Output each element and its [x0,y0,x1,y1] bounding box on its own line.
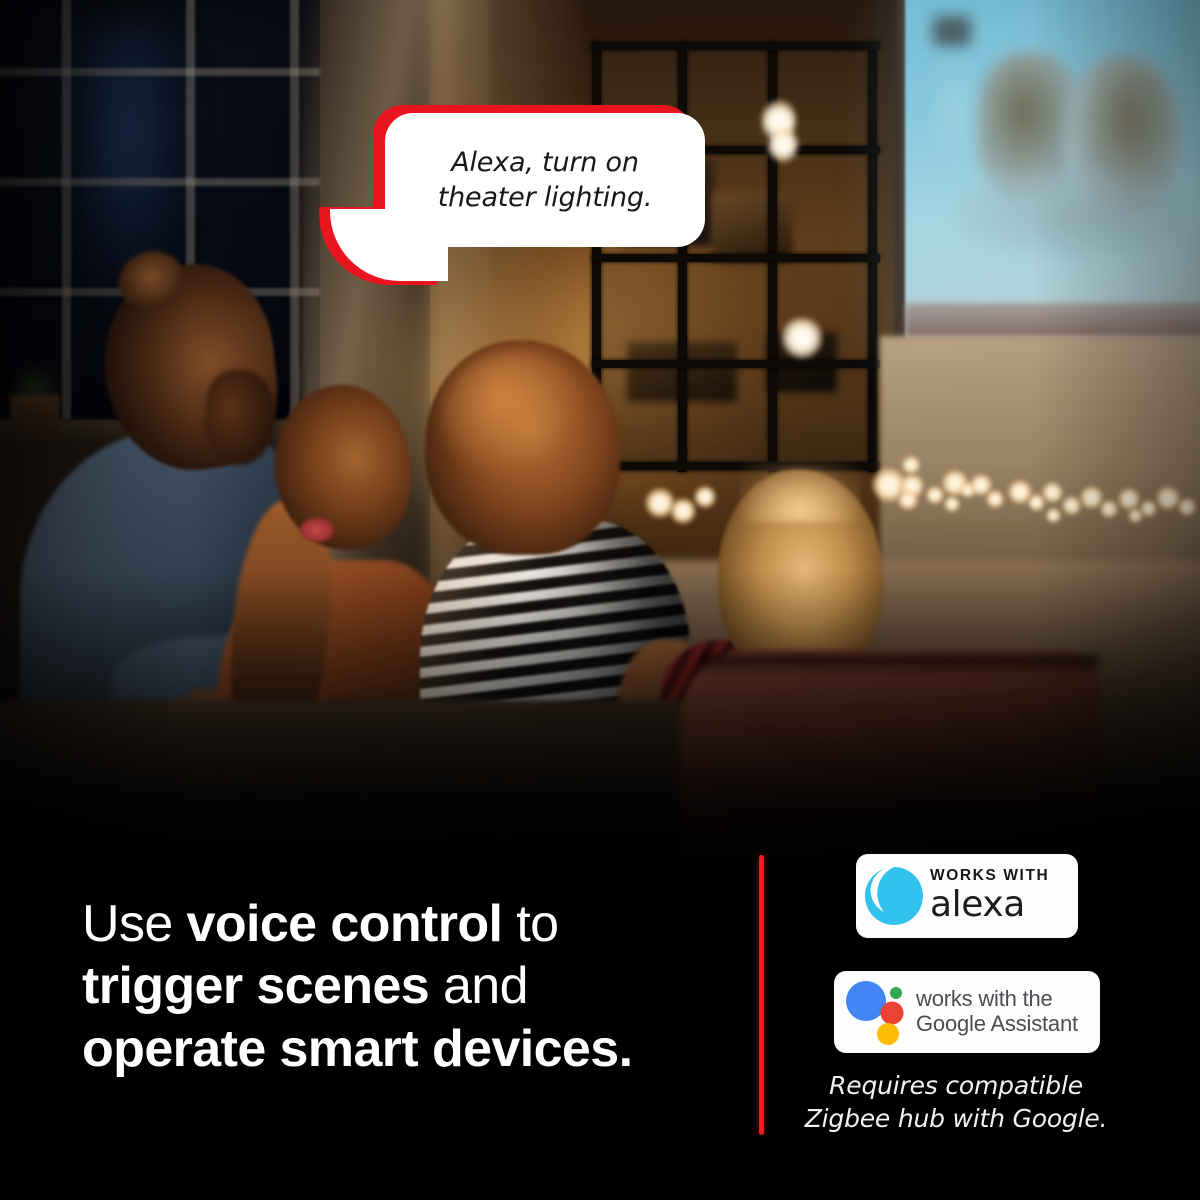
headline-l3-bold: operate smart devices. [82,1020,632,1078]
google-badge-line-2: Google Assistant [916,1012,1078,1037]
headline-l1-bold: voice control [187,895,503,953]
red-divider [759,855,764,1135]
speech-bubble-text: Alexa, turn on theater lighting. [385,113,705,247]
headline: Use voice control to trigger scenes and … [82,893,722,1080]
speech-bubble: Alexa, turn on theater lighting. [385,113,705,247]
headline-l2-bold: trigger scenes [82,957,429,1015]
headline-line-1: Use voice control to [82,893,722,955]
headline-l2-tail: and [429,957,528,1015]
alexa-ring-icon [856,854,932,938]
promo-image: Alexa, turn on theater lighting. Use voi… [0,0,1200,1200]
footnote-line-2: Zigbee hub with Google. [776,1103,1136,1136]
alexa-wordmark: alexa [930,887,1049,924]
bottom-fade [0,570,1200,900]
google-badge-line-1: works with the [916,987,1078,1012]
speech-line-2: theater lighting. [438,180,653,215]
speech-line-1: Alexa, turn on [451,145,639,180]
badge-works-with-alexa: WORKS WITH alexa [856,854,1078,938]
alexa-works-with-label: WORKS WITH [930,868,1049,884]
badge-works-with-google-assistant: works with the Google Assistant [834,971,1100,1053]
headline-line-3: operate smart devices. [82,1018,722,1080]
google-assistant-icon [834,971,920,1053]
footnote: Requires compatible Zigbee hub with Goog… [776,1070,1136,1135]
headline-line-2: trigger scenes and [82,955,722,1017]
footnote-line-1: Requires compatible [776,1070,1136,1103]
headline-l1-tail: to [502,895,558,953]
bottom-panel: Use voice control to trigger scenes and … [0,860,1200,1200]
headline-l1-lead: Use [82,895,187,953]
